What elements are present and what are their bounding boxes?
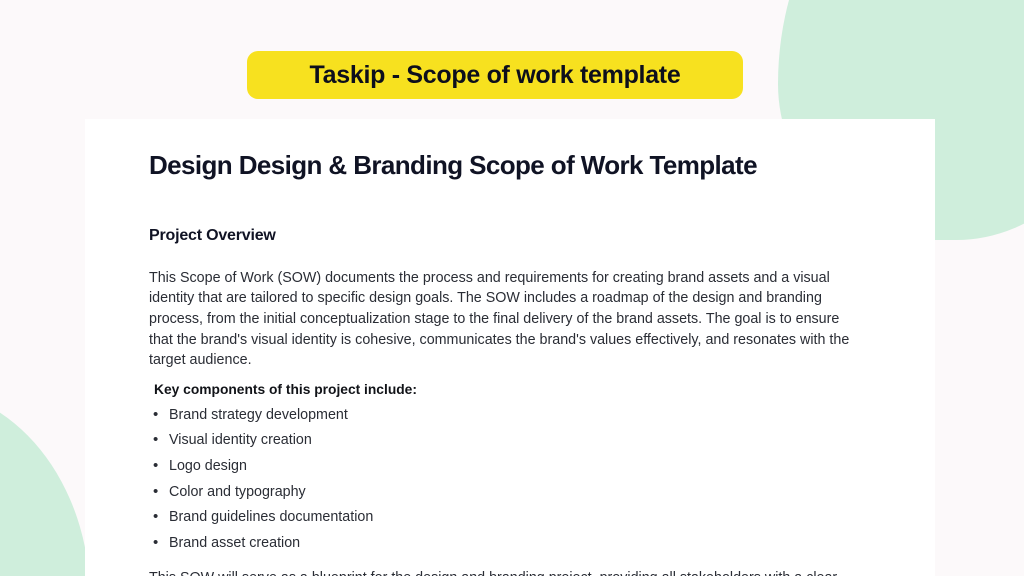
bullet-dot-icon: •	[149, 484, 169, 499]
bullet-dot-icon: •	[149, 432, 169, 447]
bullet-dot-icon: •	[149, 407, 169, 422]
list-item-label: Color and typography	[169, 485, 306, 499]
template-title-badge-label: Taskip - Scope of work template	[310, 61, 681, 90]
list-item: • Visual identity creation	[149, 432, 873, 458]
key-components-label: Key components of this project include:	[149, 382, 873, 397]
list-item-label: Brand guidelines documentation	[169, 510, 373, 524]
document-card: Design Design & Branding Scope of Work T…	[85, 119, 935, 576]
document-title: Design Design & Branding Scope of Work T…	[149, 151, 873, 181]
list-item: • Logo design	[149, 458, 873, 484]
bullet-dot-icon: •	[149, 535, 169, 550]
project-overview-paragraph: This Scope of Work (SOW) documents the p…	[149, 268, 861, 371]
list-item: • Color and typography	[149, 484, 873, 510]
key-components-list: • Brand strategy development • Visual id…	[149, 407, 873, 561]
closing-paragraph: This SOW will serve as a blueprint for t…	[149, 568, 861, 576]
mint-blob-right-edge	[934, 0, 1024, 222]
list-item-label: Visual identity creation	[169, 433, 312, 447]
template-title-badge: Taskip - Scope of work template	[247, 51, 743, 99]
list-item-label: Logo design	[169, 459, 247, 473]
bullet-dot-icon: •	[149, 509, 169, 524]
mint-blob-bottom-left	[0, 388, 90, 576]
list-item-label: Brand asset creation	[169, 536, 300, 550]
bullet-dot-icon: •	[149, 458, 169, 473]
list-item: • Brand guidelines documentation	[149, 509, 873, 535]
list-item: • Brand strategy development	[149, 407, 873, 433]
section-heading-project-overview: Project Overview	[149, 227, 873, 245]
list-item-label: Brand strategy development	[169, 408, 348, 422]
mint-blob-bottom-left-fill	[0, 560, 90, 576]
list-item: • Brand asset creation	[149, 535, 873, 561]
document-content: Design Design & Branding Scope of Work T…	[85, 119, 935, 576]
